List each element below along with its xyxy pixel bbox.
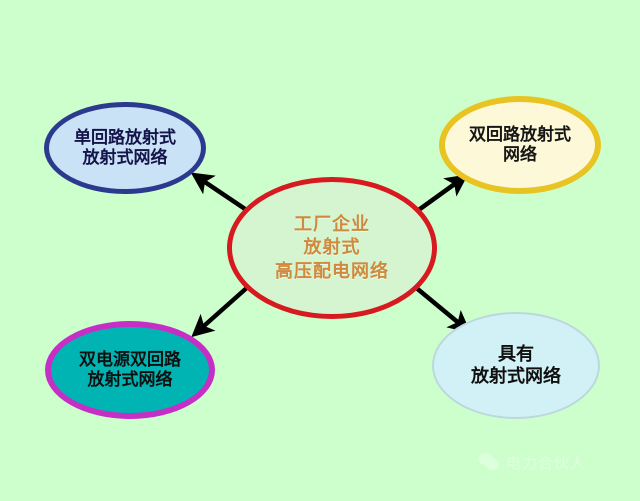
node-top-right-line-1: 双回路放射式 — [469, 125, 571, 145]
node-top-left-line-1: 单回路放射式 — [74, 128, 176, 148]
node-top-right-line-2: 网络 — [503, 145, 537, 165]
node-bottom-left: 双电源双回路 放射式网络 — [45, 321, 215, 419]
node-bottom-right: 具有 放射式网络 — [432, 312, 600, 419]
arrow-to-bottom-right — [414, 286, 466, 329]
node-top-right: 双回路放射式 网络 — [439, 96, 601, 194]
center-node-line-1: 工厂企业 — [294, 214, 370, 235]
arrow-to-top-left — [196, 176, 251, 213]
center-node-line-3: 高压配电网络 — [275, 261, 389, 282]
center-node: 工厂企业 放射式 高压配电网络 — [227, 177, 437, 319]
arrow-to-bottom-left — [196, 285, 250, 333]
node-top-left-line-2: 放射式网络 — [83, 148, 168, 168]
diagram-canvas: 工厂企业 放射式 高压配电网络 单回路放射式 放射式网络 双回路放射式 网络 双… — [0, 0, 640, 501]
node-bottom-left-line-1: 双电源双回路 — [79, 350, 181, 370]
node-bottom-right-line-1: 具有 — [498, 344, 534, 365]
arrow-to-top-right — [413, 178, 463, 214]
node-bottom-left-line-2: 放射式网络 — [88, 370, 173, 390]
center-node-line-2: 放射式 — [304, 237, 361, 258]
node-top-left: 单回路放射式 放射式网络 — [44, 102, 206, 194]
node-bottom-right-line-2: 放射式网络 — [471, 366, 561, 387]
